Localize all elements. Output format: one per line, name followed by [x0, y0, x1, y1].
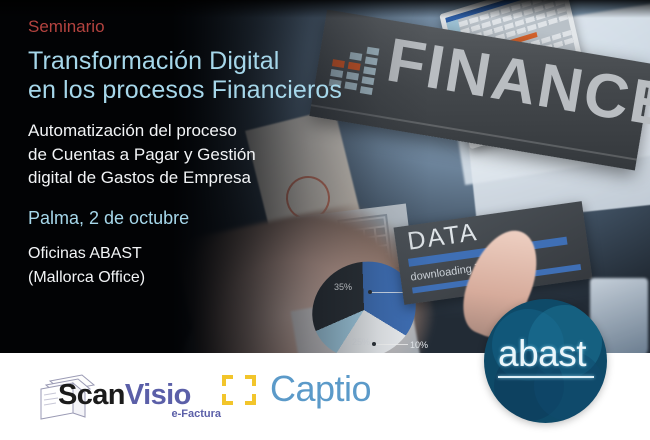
abast-logo[interactable]: abast	[484, 299, 607, 423]
title-line-1: Transformación Digital	[28, 47, 279, 75]
title-line-2: en los procesos Financieros	[28, 76, 342, 104]
subtitle-line-1: Automatización del proceso	[28, 121, 237, 140]
corner-brackets-icon	[222, 375, 256, 405]
captio-wordmark: Captio	[270, 368, 371, 410]
scanvisio-word-visio: Visio	[125, 379, 191, 411]
subtitle-line-3: digital de Gastos de Empresa	[28, 168, 251, 187]
abast-underline	[498, 376, 594, 378]
page-title: Transformación Digital en los procesos F…	[28, 47, 428, 106]
seminar-poster: FINANCE 35% 25% 25% 10%	[0, 0, 650, 440]
event-date: Palma, 2 de octubre	[28, 208, 428, 230]
subtitle-block: Automatización del proceso de Cuentas a …	[28, 119, 428, 189]
venue-line-2: (Mallorca Office)	[28, 269, 145, 286]
abast-wordmark: abast	[498, 335, 586, 372]
venue-block: Oficinas ABAST (Mallorca Office)	[28, 242, 428, 291]
venue-line-1: Oficinas ABAST	[28, 245, 142, 262]
scanvisio-tagline: e-Factura	[171, 408, 221, 420]
subtitle-line-2: de Cuentas a Pagar y Gestión	[28, 145, 256, 164]
kicker-label: Seminario	[28, 18, 428, 37]
captio-logo[interactable]: Captio	[222, 375, 392, 419]
poster-text-block: Seminario Transformación Digital en los …	[28, 0, 428, 291]
scanvisio-word-scan: Scan	[58, 379, 125, 411]
scanvisio-logo[interactable]: ScanVisio e-Factura	[36, 371, 221, 423]
